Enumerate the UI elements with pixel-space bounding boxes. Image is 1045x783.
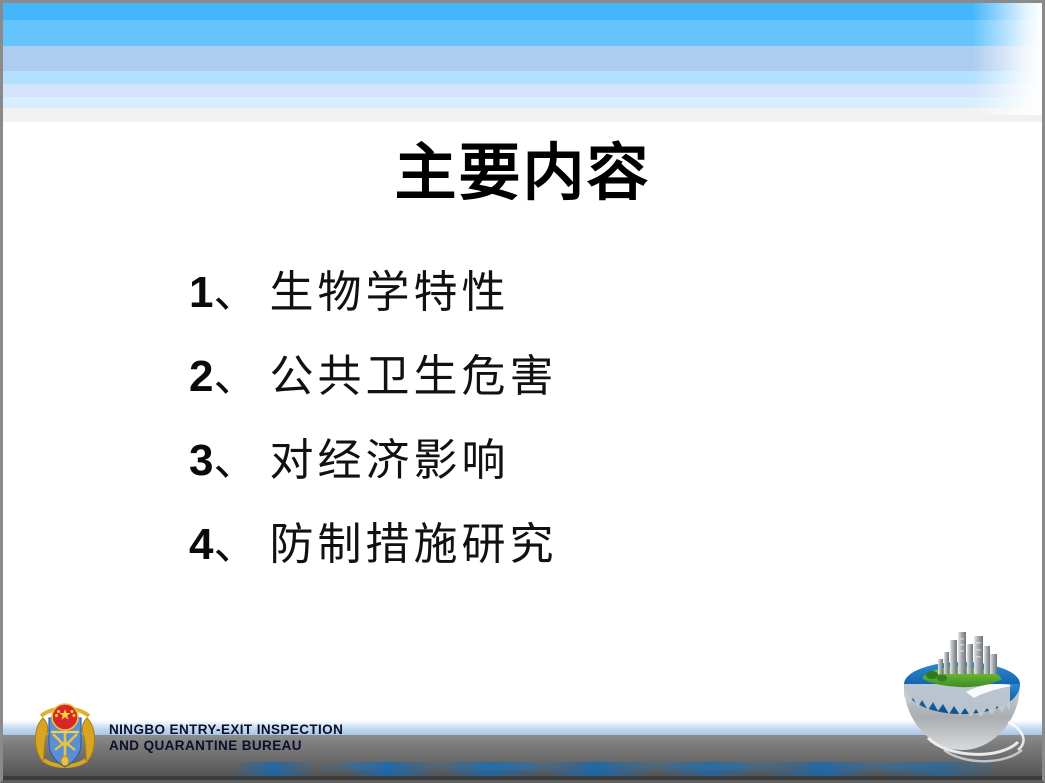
- header-band-5: [3, 84, 1042, 97]
- presentation-slide: 主要内容 1 、 生物学特性 2 、 公共卫生危害 3 、 对经济影响 4 、 …: [0, 0, 1045, 783]
- ciq-emblem-icon: [31, 698, 99, 772]
- agenda-list: 1 、 生物学特性 2 、 公共卫生危害 3 、 对经济影响 4 、 防制措施研…: [189, 256, 889, 592]
- list-item-number: 2: [189, 352, 213, 402]
- organization-name-line1: NINGBO ENTRY-EXIT INSPECTION: [109, 722, 343, 738]
- list-item: 3 、 对经济影响: [189, 424, 889, 508]
- header-band-6: [3, 97, 1042, 108]
- page-title: 主要内容: [3, 137, 1042, 208]
- header-band-7: [3, 108, 1042, 122]
- list-item-number: 4: [189, 520, 213, 570]
- list-item-separator: 、: [213, 340, 257, 404]
- footer-water-speckle-secondary: [3, 763, 1042, 770]
- list-item-separator: 、: [213, 256, 257, 320]
- header-band-fade: [972, 3, 1042, 115]
- header-band-3: [3, 46, 1042, 71]
- list-item-label: 生物学特性: [269, 256, 509, 320]
- header-decoration: [3, 3, 1042, 115]
- list-item-separator: 、: [213, 508, 257, 572]
- list-item-separator: 、: [213, 424, 257, 488]
- header-band-4: [3, 71, 1042, 84]
- organization-name: NINGBO ENTRY-EXIT INSPECTION AND QUARANT…: [109, 722, 343, 754]
- list-item-number: 3: [189, 436, 213, 486]
- footer-bottom-edge: [3, 776, 1042, 780]
- list-item-number: 1: [189, 268, 213, 318]
- organization-name-line2: AND QUARANTINE BUREAU: [109, 738, 343, 754]
- header-band-1: [3, 3, 1042, 20]
- list-item-label: 公共卫生危害: [269, 340, 557, 404]
- globe-city-icon: [888, 626, 1036, 768]
- list-item: 2 、 公共卫生危害: [189, 340, 889, 424]
- list-item-label: 对经济影响: [269, 424, 509, 488]
- list-item: 1 、 生物学特性: [189, 256, 889, 340]
- list-item: 4 、 防制措施研究: [189, 508, 889, 592]
- header-band-2: [3, 20, 1042, 46]
- list-item-label: 防制措施研究: [269, 508, 557, 572]
